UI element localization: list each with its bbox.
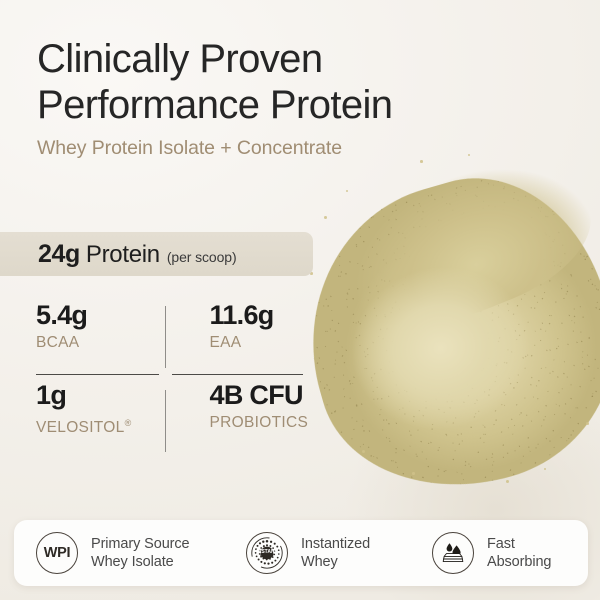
headline-block: Clinically Proven Performance Protein Wh… <box>37 36 507 160</box>
headline-line-1: Clinically Proven <box>37 37 322 81</box>
powder-speck <box>586 422 589 425</box>
stat-label: EAA <box>210 333 322 353</box>
feature-text: Instantized Whey <box>301 535 370 571</box>
stats-row: 5.4g BCAA 11.6g EAA <box>36 300 321 353</box>
powder-speck <box>362 450 365 453</box>
stat-value: 1g <box>36 380 179 410</box>
stat-value: 4B CFU <box>210 380 322 410</box>
headline-line-2: Performance Protein <box>37 83 392 127</box>
protein-serving-note: (per scoop) <box>167 249 237 265</box>
nutrition-stats-grid: 5.4g BCAA 11.6g EAA 1g VELOSITOL® 4B CFU… <box>36 300 321 438</box>
fast-absorbing-droplet-icon <box>432 532 474 574</box>
feature-instantized-whey: INSTANT WHEY Instantized Whey <box>246 532 432 574</box>
feature-badges-card: WPI Primary Source Whey Isolate <box>14 520 588 586</box>
stat-value: 11.6g <box>210 300 322 330</box>
stat-cell-eaa: 11.6g EAA <box>179 300 322 353</box>
stat-cell-velositol: 1g VELOSITOL® <box>36 380 179 438</box>
powder-speck <box>420 160 423 163</box>
stat-cell-probiotics: 4B CFU PROBIOTICS <box>179 380 322 438</box>
stats-horizontal-divider-left <box>36 374 159 375</box>
stat-label: BCAA <box>36 333 179 353</box>
stat-label-text: VELOSITOL <box>36 419 125 436</box>
stat-label: PROBIOTICS <box>210 413 322 433</box>
feature-line-1: Primary Source <box>91 536 190 552</box>
registered-trademark-symbol: ® <box>125 418 132 428</box>
stat-label: VELOSITOL® <box>36 413 179 438</box>
feature-text: Fast Absorbing <box>487 535 551 571</box>
powder-speck <box>346 190 348 192</box>
protein-amount: 24g <box>38 240 80 269</box>
powder-speck <box>412 472 415 475</box>
wpi-badge-label: WPI <box>44 545 71 561</box>
feature-line-2: Absorbing <box>487 553 551 571</box>
stats-row-gap <box>36 353 321 380</box>
page-title: Clinically Proven Performance Protein <box>37 36 507 128</box>
stats-horizontal-divider-right <box>172 374 303 375</box>
protein-highlight-content: 24g Protein (per scoop) <box>38 240 237 269</box>
stat-cell-bcaa: 5.4g BCAA <box>36 300 179 353</box>
feature-line-2: Whey Isolate <box>91 553 190 571</box>
feature-line-1: Fast <box>487 536 515 552</box>
feature-fast-absorbing: Fast Absorbing <box>432 532 588 574</box>
feature-line-2: Whey <box>301 553 370 571</box>
powder-speck <box>324 216 327 219</box>
powder-speck <box>506 480 509 483</box>
product-infographic: Clinically Proven Performance Protein Wh… <box>0 0 600 600</box>
instant-whey-seal-icon: INSTANT WHEY <box>246 532 288 574</box>
protein-powder-scoop-photo <box>300 150 600 510</box>
feature-text: Primary Source Whey Isolate <box>91 535 190 571</box>
seal-line-2: WHEY <box>260 554 274 559</box>
headline-subtitle: Whey Protein Isolate + Concentrate <box>37 137 507 160</box>
protein-label: Protein <box>86 241 160 269</box>
protein-highlight-bar: 24g Protein (per scoop) <box>0 232 313 276</box>
powder-speck <box>544 468 546 470</box>
feature-line-1: Instantized <box>301 536 370 552</box>
wpi-circle-icon: WPI <box>36 532 78 574</box>
stat-value: 5.4g <box>36 300 179 330</box>
stats-row: 1g VELOSITOL® 4B CFU PROBIOTICS <box>36 380 321 438</box>
feature-primary-source: WPI Primary Source Whey Isolate <box>14 532 246 574</box>
